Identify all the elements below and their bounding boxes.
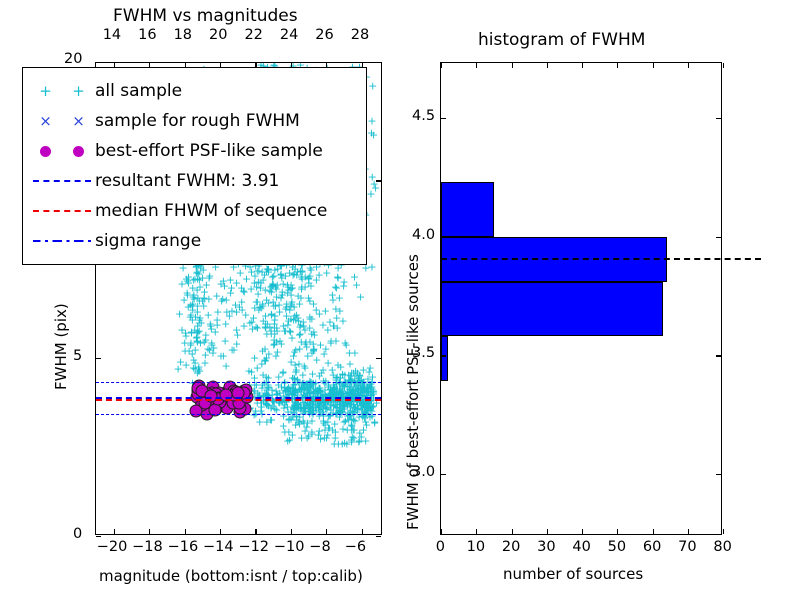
scatter-point — [262, 417, 271, 428]
scatter-point — [359, 425, 368, 436]
scatter-point — [298, 383, 307, 394]
scatter-point — [336, 384, 345, 395]
scatter-point — [319, 418, 328, 429]
scatter-point — [365, 379, 374, 390]
scatter-point — [355, 436, 364, 447]
scatter-point — [300, 403, 309, 414]
scatter-point — [205, 273, 214, 284]
scatter-point — [195, 366, 204, 377]
scatter-point — [263, 385, 272, 396]
scatter-point — [289, 379, 298, 390]
scatter-point — [355, 370, 364, 381]
scatter-point — [326, 336, 335, 347]
scatter-point — [323, 429, 332, 440]
scatter-point — [319, 407, 328, 418]
scatter-point — [227, 344, 236, 355]
scatter-point — [258, 379, 267, 390]
scatter-point — [309, 386, 318, 397]
scatter-point — [264, 383, 273, 394]
scatter-point — [362, 406, 371, 417]
scatter-point — [258, 346, 267, 357]
scatter-point — [279, 366, 288, 377]
scatter-point — [268, 401, 277, 412]
scatter-point — [354, 436, 363, 447]
scatter-point — [192, 335, 201, 346]
scatter-point — [281, 387, 290, 398]
scatter-point — [186, 310, 195, 321]
scatter-point — [371, 183, 380, 194]
scatter-point — [281, 385, 290, 396]
scatter-point — [211, 326, 220, 337]
legend-item-label: sample for rough FWHM — [95, 111, 300, 131]
scatter-point — [356, 292, 365, 303]
right-bottom-tickmark-5 — [617, 529, 618, 534]
scatter-point — [284, 427, 293, 438]
scatter-point — [250, 303, 259, 314]
scatter-point — [276, 292, 285, 303]
scatter-point — [369, 129, 378, 140]
scatter-point — [269, 339, 278, 350]
scatter-point — [363, 382, 372, 393]
scatter-point — [258, 299, 267, 310]
scatter-point — [297, 271, 306, 282]
scatter-point — [267, 414, 276, 425]
scatter-point — [253, 265, 262, 276]
scatter-point — [283, 319, 292, 330]
legend-line-glyph — [33, 240, 91, 242]
scatter-point — [309, 327, 318, 338]
legend-item-label: all sample — [95, 81, 182, 101]
psf-sample-point — [189, 405, 202, 418]
scatter-point — [179, 294, 188, 305]
scatter-point — [295, 321, 304, 332]
scatter-point — [342, 340, 351, 351]
right-top-tickmark-1 — [476, 63, 477, 68]
scatter-point — [347, 437, 356, 448]
scatter-point — [270, 264, 279, 275]
scatter-point — [187, 327, 196, 338]
scatter-point — [321, 402, 330, 413]
scatter-point — [295, 419, 304, 430]
scatter-point — [221, 318, 230, 329]
scatter-point — [304, 384, 313, 395]
scatter-point — [351, 365, 360, 376]
scatter-point — [260, 343, 269, 354]
scatter-point — [352, 384, 361, 395]
scatter-point — [190, 294, 199, 305]
scatter-point — [192, 328, 201, 339]
scatter-point — [305, 312, 314, 323]
scatter-point — [174, 363, 183, 374]
right-y-tickmark-3 — [441, 474, 446, 475]
scatter-point — [321, 305, 330, 316]
scatter-point — [188, 291, 197, 302]
scatter-point — [324, 382, 333, 393]
right-bottom-tickmark-3 — [547, 529, 548, 534]
scatter-point — [329, 321, 338, 332]
plus-marker-icon: ++ — [29, 81, 95, 101]
scatter-point — [305, 336, 314, 347]
scatter-point — [368, 410, 377, 421]
scatter-point — [267, 326, 276, 337]
scatter-point — [209, 343, 218, 354]
left-y-tickmark-right-10 — [376, 180, 381, 181]
scatter-point — [255, 416, 264, 427]
scatter-point — [266, 414, 275, 425]
scatter-point — [339, 281, 348, 292]
scatter-point — [264, 348, 273, 359]
scatter-point — [368, 80, 377, 91]
scatter-point — [364, 382, 373, 393]
scatter-point — [333, 401, 342, 412]
scatter-point — [273, 279, 282, 290]
scatter-point — [280, 426, 289, 437]
scatter-point — [295, 343, 304, 354]
scatter-point — [345, 374, 354, 385]
scatter-point — [287, 283, 296, 294]
scatter-point — [283, 401, 292, 412]
scatter-point — [348, 386, 357, 397]
scatter-point — [367, 116, 376, 127]
scatter-point — [309, 378, 318, 389]
scatter-point — [197, 318, 206, 329]
scatter-point — [195, 317, 204, 328]
scatter-point — [290, 301, 299, 312]
scatter-point — [286, 313, 295, 324]
scatter-point — [296, 403, 305, 414]
scatter-point — [353, 368, 362, 379]
scatter-point — [360, 383, 369, 394]
scatter-point — [247, 316, 256, 327]
scatter-point — [293, 374, 302, 385]
scatter-point — [264, 379, 273, 390]
scatter-point — [188, 300, 197, 311]
scatter-point — [293, 400, 302, 411]
scatter-point — [264, 400, 273, 411]
scatter-point — [177, 279, 186, 290]
scatter-point — [254, 276, 263, 287]
scatter-point — [262, 328, 271, 339]
scatter-point — [363, 403, 372, 414]
scatter-point — [307, 426, 316, 437]
scatter-point — [267, 308, 276, 319]
scatter-point — [284, 316, 293, 327]
legend-item-3[interactable]: resultant FWHM: 3.91 — [29, 166, 356, 196]
scatter-point — [240, 286, 249, 297]
scatter-point — [239, 286, 248, 297]
scatter-point — [288, 384, 297, 395]
scatter-point — [344, 387, 353, 398]
scatter-point — [298, 415, 307, 426]
scatter-point — [286, 301, 295, 312]
scatter-point — [313, 386, 322, 397]
scatter-point — [309, 345, 318, 356]
scatter-point — [213, 315, 222, 326]
scatter-point — [257, 402, 266, 413]
scatter-point — [270, 315, 279, 326]
scatter-point — [290, 378, 299, 389]
scatter-point — [195, 274, 204, 285]
scatter-point — [256, 278, 265, 289]
scatter-point — [287, 333, 296, 344]
scatter-point — [291, 385, 300, 396]
scatter-point — [340, 369, 349, 380]
scatter-point — [195, 314, 204, 325]
scatter-point — [250, 271, 259, 282]
scatter-point — [367, 384, 376, 395]
scatter-point — [354, 375, 363, 386]
histogram-bar[interactable] — [441, 182, 494, 237]
right-bottom-tickmark-1 — [476, 529, 477, 534]
scatter-point — [300, 324, 309, 335]
scatter-point — [360, 402, 369, 413]
scatter-point — [369, 386, 378, 397]
scatter-point — [287, 356, 296, 367]
scatter-point — [306, 400, 315, 411]
scatter-point — [349, 433, 358, 444]
scatter-point — [201, 334, 210, 345]
scatter-point — [294, 358, 303, 369]
scatter-point — [187, 327, 196, 338]
scatter-point — [186, 299, 195, 310]
right-top-tickmark-0 — [441, 63, 442, 68]
scatter-point — [193, 274, 202, 285]
scatter-point — [323, 358, 332, 369]
scatter-point — [311, 403, 320, 414]
scatter-point — [285, 326, 294, 337]
scatter-point — [262, 371, 271, 382]
circle-glyph — [40, 146, 51, 157]
scatter-point — [206, 321, 215, 332]
scatter-point — [289, 403, 298, 414]
scatter-point — [292, 269, 301, 280]
scatter-point — [204, 293, 213, 304]
legend-item-0[interactable]: ++all sample — [29, 76, 356, 106]
scatter-point — [352, 279, 361, 290]
scatter-point — [287, 290, 296, 301]
scatter-point — [284, 384, 293, 395]
scatter-point — [192, 331, 201, 342]
scatter-point — [198, 273, 207, 284]
scatter-point — [347, 425, 356, 436]
scatter-point — [319, 348, 328, 359]
dashed-line-icon — [29, 201, 95, 221]
scatter-point — [345, 387, 354, 398]
right-x-tick-60: 60 — [643, 539, 661, 555]
scatter-point — [316, 340, 325, 351]
histogram-bar[interactable] — [441, 282, 663, 337]
scatter-point — [271, 300, 280, 311]
scatter-point — [202, 280, 211, 291]
scatter-point — [303, 400, 312, 411]
right-top-tickmark-7 — [688, 63, 689, 68]
histogram-plot-area[interactable] — [440, 62, 722, 535]
histogram-bar[interactable] — [441, 336, 448, 381]
right-bottom-tickmark-4 — [582, 529, 583, 534]
scatter-point — [320, 425, 329, 436]
scatter-point — [271, 281, 280, 292]
scatter-point — [271, 350, 280, 361]
scatter-point — [314, 383, 323, 394]
scatter-point — [293, 401, 302, 412]
scatter-point — [332, 407, 341, 418]
scatter-point — [331, 282, 340, 293]
scatter-point — [331, 426, 340, 437]
scatter-point — [345, 402, 354, 413]
scatter-point — [288, 386, 297, 397]
scatter-point — [268, 281, 277, 292]
scatter-point — [297, 337, 306, 348]
scatter-point — [190, 325, 199, 336]
scatter-point — [291, 400, 300, 411]
scatter-point — [277, 289, 286, 300]
scatter-point — [185, 346, 194, 357]
scatter-point — [261, 322, 270, 333]
scatter-point — [254, 304, 263, 315]
scatter-point — [335, 400, 344, 411]
scatter-point — [307, 429, 316, 440]
scatter-point — [338, 438, 347, 449]
scatter-point — [193, 336, 202, 347]
scatter-point — [195, 296, 204, 307]
scatter-point — [188, 314, 197, 325]
scatter-point — [296, 265, 305, 276]
right-y-tick-4.5: 4.5 — [412, 108, 435, 124]
scatter-point — [328, 386, 337, 397]
scatter-point — [266, 402, 275, 413]
scatter-point — [340, 276, 349, 287]
scatter-point — [315, 386, 324, 397]
scatter-point — [343, 410, 352, 421]
scatter-point — [203, 343, 212, 354]
scatter-point — [186, 340, 195, 351]
scatter-point — [305, 323, 314, 334]
scatter-point — [318, 320, 327, 331]
scatter-point — [349, 406, 358, 417]
legend-item-2[interactable]: best-effort PSF-like sample — [29, 136, 356, 166]
scatter-point — [352, 406, 361, 417]
scatter-point — [305, 271, 314, 282]
scatter-point — [222, 307, 231, 318]
scatter-point — [232, 306, 241, 317]
scatter-point — [336, 362, 345, 373]
scatter-point — [320, 378, 329, 389]
scatter-point — [329, 384, 338, 395]
scatter-point — [307, 348, 316, 359]
scatter-point — [279, 320, 288, 331]
scatter-point — [364, 386, 373, 397]
left-bottom-tick-4: −12 — [238, 539, 269, 555]
scatter-point — [277, 338, 286, 349]
scatter-point — [338, 316, 347, 327]
scatter-point — [353, 400, 362, 411]
scatter-point — [296, 292, 305, 303]
scatter-point — [176, 357, 185, 368]
scatter-point — [260, 378, 269, 389]
scatter-point — [292, 310, 301, 321]
scatter-point — [360, 407, 369, 418]
scatter-point — [349, 368, 358, 379]
cross-glyph: × — [72, 114, 85, 129]
scatter-point — [269, 271, 278, 282]
legend-item-4[interactable]: median FHWM of sequence — [29, 196, 356, 226]
scatter-point — [282, 298, 291, 309]
scatter-point — [261, 322, 270, 333]
scatter-point — [306, 281, 315, 292]
scatter-point — [283, 385, 292, 396]
scatter-point — [288, 383, 297, 394]
scatter-point — [270, 339, 279, 350]
scatter-point — [237, 296, 246, 307]
scatter-point — [335, 383, 344, 394]
scatter-point — [316, 406, 325, 417]
scatter-point — [181, 328, 190, 339]
scatter-point — [330, 438, 339, 449]
right-y-tickmark-right-3.5 — [716, 355, 721, 356]
scatter-point — [191, 364, 200, 375]
right-x-tick-20: 20 — [502, 539, 520, 555]
plot-legend[interactable]: ++all sample××sample for rough FWHMbest-… — [22, 67, 367, 265]
scatter-point — [304, 292, 313, 303]
scatter-point — [331, 433, 340, 444]
left-top-tick-16: 16 — [138, 27, 156, 43]
scatter-point — [305, 296, 314, 307]
scatter-point — [245, 318, 254, 329]
scatter-point — [309, 406, 318, 417]
scatter-point — [265, 322, 274, 333]
scatter-point — [303, 378, 312, 389]
scatter-point — [298, 267, 307, 278]
figure-canvas: FWHM vs magnitudes magnitude (bottom:isn… — [0, 0, 800, 600]
scatter-point — [353, 385, 362, 396]
scatter-point — [231, 300, 240, 311]
left-bottom-tickmark-5 — [291, 529, 292, 534]
scatter-point — [336, 407, 345, 418]
scatter-point — [326, 400, 335, 411]
scatter-point — [329, 382, 338, 393]
scatter-point — [193, 327, 202, 338]
scatter-point — [177, 325, 186, 336]
scatter-point — [292, 404, 301, 415]
scatter-point — [247, 367, 256, 378]
scatter-point — [309, 344, 318, 355]
scatter-point — [259, 316, 268, 327]
scatter-point — [249, 313, 258, 324]
scatter-point — [361, 435, 370, 446]
scatter-point — [268, 279, 277, 290]
scatter-point — [269, 300, 278, 311]
scatter-point — [314, 429, 323, 440]
legend-item-5[interactable]: sigma range — [29, 226, 356, 256]
scatter-point — [323, 416, 332, 427]
scatter-point — [344, 370, 353, 381]
scatter-point — [290, 385, 299, 396]
scatter-point — [204, 309, 213, 320]
scatter-point — [189, 355, 198, 366]
scatter-point — [244, 366, 253, 377]
circle-marker-icon — [29, 141, 95, 161]
scatter-point — [280, 378, 289, 389]
scatter-point — [186, 312, 195, 323]
scatter-point — [290, 386, 299, 397]
scatter-point — [250, 277, 259, 288]
scatter-point — [346, 371, 355, 382]
legend-item-1[interactable]: ××sample for rough FWHM — [29, 106, 356, 136]
scatter-point — [217, 296, 226, 307]
scatter-point — [321, 419, 330, 430]
scatter-point — [180, 337, 189, 348]
scatter-point — [193, 267, 202, 278]
